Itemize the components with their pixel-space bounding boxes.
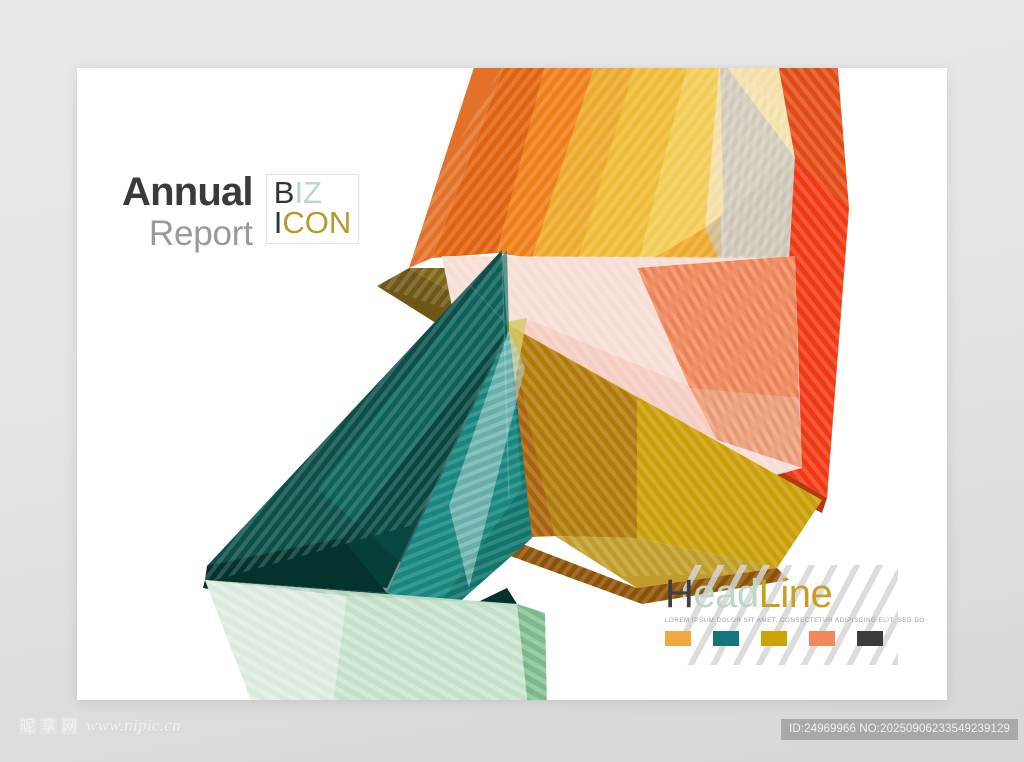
swatch-amber bbox=[665, 631, 691, 646]
watermark-logo-chinese: 昵 享 网 bbox=[18, 716, 79, 736]
watermark-url: www.nipic.cn bbox=[86, 716, 181, 736]
biz-icon-logo: BIZ ICON bbox=[266, 174, 360, 244]
page-title-annual: Annual bbox=[122, 173, 253, 212]
site-watermark: 昵 享 网 www.nipic.cn bbox=[18, 716, 181, 736]
headline-block: HeadLine LOREM IPSUM DOLOR SIT AMET, CON… bbox=[665, 573, 900, 646]
watermark-char-1: 昵 bbox=[18, 716, 37, 736]
headline-ead: ead bbox=[693, 572, 758, 616]
headline-l: L bbox=[759, 572, 781, 616]
logo-con: CON bbox=[282, 205, 351, 240]
headline-subtitle: LOREM IPSUM DOLOR SIT AMET, CONSECTETUR … bbox=[665, 617, 900, 624]
cover-card: Annual Report BIZ ICON HeadLine LOREM IP… bbox=[77, 68, 947, 700]
headline-ine: ine bbox=[780, 572, 832, 616]
title-words: Annual Report bbox=[122, 173, 253, 253]
headline-text: HeadLine bbox=[665, 573, 900, 615]
title-row: Annual Report BIZ ICON bbox=[122, 173, 359, 253]
swatch-charcoal bbox=[857, 631, 883, 646]
page-title-report: Report bbox=[122, 216, 253, 253]
logo-line-icon: ICON bbox=[274, 208, 352, 238]
screenshot-canvas: Annual Report BIZ ICON HeadLine LOREM IP… bbox=[0, 0, 1024, 762]
watermark-char-2: 享 bbox=[39, 716, 58, 736]
swatch-salmon bbox=[809, 631, 835, 646]
swatch-gold bbox=[761, 631, 787, 646]
swatch-teal bbox=[713, 631, 739, 646]
watermark-char-3: 网 bbox=[60, 716, 79, 736]
image-id-badge: ID:24969966 NO:20250906233549239129 bbox=[781, 719, 1018, 740]
headline-h: H bbox=[665, 572, 693, 616]
logo-line-biz: BIZ bbox=[274, 178, 352, 208]
color-swatch-row bbox=[665, 631, 900, 646]
title-block: Annual Report BIZ ICON bbox=[122, 173, 359, 253]
